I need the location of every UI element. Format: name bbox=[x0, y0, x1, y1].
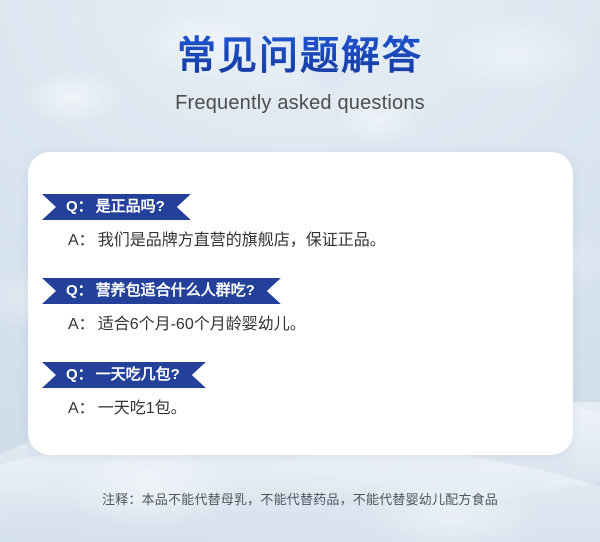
question-text: 是正品吗? bbox=[96, 198, 165, 215]
question-prefix-label: Q： bbox=[66, 282, 93, 299]
question-badge: Q：营养包适合什么人群吃? bbox=[42, 278, 281, 304]
answer-prefix-label: A： bbox=[68, 400, 95, 417]
page-subtitle: Frequently asked questions bbox=[0, 79, 600, 115]
answer-row: A：一天吃1包。 bbox=[42, 394, 559, 418]
faq-item: Q：是正品吗? A：我们是品牌方直营的旗舰店，保证正品。 bbox=[42, 194, 559, 250]
question-text: 营养包适合什么人群吃? bbox=[96, 282, 255, 299]
faq-card: Q：是正品吗? A：我们是品牌方直营的旗舰店，保证正品。 Q：营养包适合什么人群… bbox=[28, 152, 573, 455]
faq-item: Q：一天吃几包? A：一天吃1包。 bbox=[42, 362, 559, 418]
question-badge: Q：是正品吗? bbox=[42, 194, 191, 220]
answer-row: A：适合6个月-60个月龄婴幼儿。 bbox=[42, 310, 559, 334]
question-badge: Q：一天吃几包? bbox=[42, 362, 206, 388]
page-title: 常见问题解答 bbox=[0, 0, 600, 79]
page-header: 常见问题解答 Frequently asked questions bbox=[0, 0, 600, 115]
answer-text: 适合6个月-60个月龄婴幼儿。 bbox=[98, 316, 306, 333]
answer-text: 一天吃1包。 bbox=[98, 400, 187, 417]
faq-item: Q：营养包适合什么人群吃? A：适合6个月-60个月龄婴幼儿。 bbox=[42, 278, 559, 334]
faq-list: Q：是正品吗? A：我们是品牌方直营的旗舰店，保证正品。 Q：营养包适合什么人群… bbox=[42, 194, 559, 418]
faq-page: 常见问题解答 Frequently asked questions Q：是正品吗… bbox=[0, 0, 600, 542]
question-prefix-label: Q： bbox=[66, 366, 93, 383]
question-text: 一天吃几包? bbox=[96, 366, 180, 383]
answer-text: 我们是品牌方直营的旗舰店，保证正品。 bbox=[98, 232, 386, 249]
answer-prefix-label: A： bbox=[68, 232, 95, 249]
question-prefix-label: Q： bbox=[66, 198, 93, 215]
answer-row: A：我们是品牌方直营的旗舰店，保证正品。 bbox=[42, 226, 559, 250]
footer-note: 注释：本品不能代替母乳，不能代替药品，不能代替婴幼儿配方食品 bbox=[0, 489, 600, 508]
answer-prefix-label: A： bbox=[68, 316, 95, 333]
